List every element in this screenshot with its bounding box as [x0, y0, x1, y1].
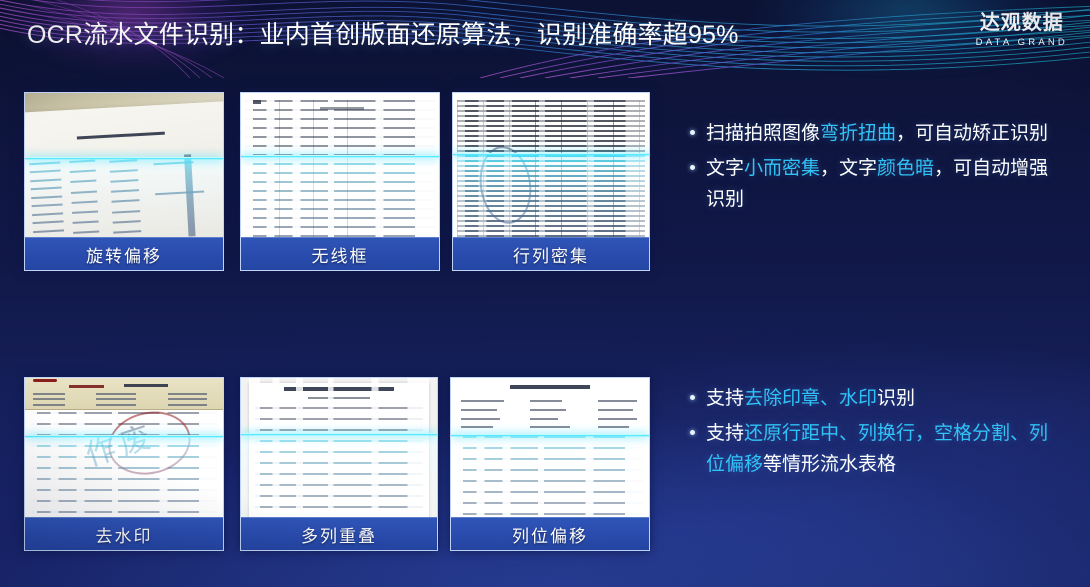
bullet-item: 支持还原行距中、列换行，空格分割、列位偏移等情形流水表格 — [688, 418, 1060, 480]
thumbnail-caption-5: 多列重叠 — [241, 517, 437, 550]
bullet-list-top: 扫描拍照图像弯折扭曲，可自动矫正识别文字小而密集，文字颜色暗，可自动增强识别 — [688, 118, 1056, 219]
bullet-item: 扫描拍照图像弯折扭曲，可自动矫正识别 — [688, 118, 1056, 149]
caption-text: 去水印 — [96, 522, 153, 547]
thumbnail-column-offset[interactable]: 列位偏移 — [450, 377, 650, 551]
thumbnail-caption-2: 无线框 — [241, 237, 439, 270]
bank-logo-mark — [33, 379, 57, 382]
bullet-plain-text: 识别 — [877, 388, 915, 409]
thumbnail-rotation-offset[interactable]: 旋转偏移 — [24, 92, 224, 271]
thumbnail-borderless-table[interactable]: 无线框 — [240, 92, 440, 271]
caption-text: 行列密集 — [513, 242, 589, 267]
bullet-plain-text: 支持 — [706, 388, 744, 409]
caption-text: 列位偏移 — [512, 522, 588, 547]
caption-text: 多列重叠 — [301, 522, 377, 547]
brand-logo-en: DATA GRAND — [976, 36, 1068, 50]
bullet-highlight-text: 小而密集 — [744, 158, 820, 179]
bullet-dot-icon — [690, 430, 695, 435]
bullet-text: 扫描拍照图像弯折扭曲，可自动矫正识别 — [706, 118, 1056, 149]
bullet-text: 支持还原行距中、列换行，空格分割、列位偏移等情形流水表格 — [706, 418, 1060, 480]
bullet-plain-text: 等情形流水表格 — [763, 454, 896, 475]
bullet-item: 支持去除印章、水印识别 — [688, 383, 1060, 414]
bullet-plain-text: 扫描拍照图像 — [706, 123, 820, 144]
thumbnail-remove-watermark[interactable]: 作废 去水印 — [24, 377, 224, 551]
bullet-highlight-text: 颜色暗 — [877, 158, 934, 179]
bullet-plain-text: 支持 — [706, 423, 744, 444]
bullet-plain-text: 文字 — [706, 158, 744, 179]
thumbnail-caption-6: 列位偏移 — [451, 517, 649, 550]
thumbnail-caption-1: 旋转偏移 — [25, 237, 223, 270]
bullet-plain-text: ，文字 — [820, 158, 877, 179]
bullet-highlight-text: 去除印章、水印 — [744, 388, 877, 409]
bullet-plain-text: ，可自动矫正识别 — [896, 123, 1048, 144]
brand-logo: 达观数据 DATA GRAND — [976, 10, 1068, 50]
caption-text: 无线框 — [312, 242, 369, 267]
bullet-dot-icon — [690, 395, 695, 400]
page-title: OCR流水文件识别：业内首创版面还原算法，识别准确率超95% — [27, 16, 739, 54]
thumbnail-multi-column-overlap[interactable]: 多列重叠 — [240, 377, 438, 551]
bullet-text: 文字小而密集，文字颜色暗，可自动增强识别 — [706, 153, 1056, 215]
bullet-dot-icon — [690, 165, 695, 170]
bullet-text: 支持去除印章、水印识别 — [706, 383, 1060, 414]
bullet-dot-icon — [690, 130, 695, 135]
slide-canvas: OCR流水文件识别：业内首创版面还原算法，识别准确率超95% 达观数据 DATA… — [0, 0, 1090, 587]
thumbnail-caption-3: 行列密集 — [453, 237, 649, 270]
thumbnail-dense-rows-cols[interactable]: 行列密集 — [452, 92, 650, 271]
bullet-item: 文字小而密集，文字颜色暗，可自动增强识别 — [688, 153, 1056, 215]
bullet-list-bottom: 支持去除印章、水印识别支持还原行距中、列换行，空格分割、列位偏移等情形流水表格 — [688, 383, 1060, 484]
bullet-highlight-text: 弯折扭曲 — [820, 123, 896, 144]
thumbnail-caption-4: 去水印 — [25, 517, 223, 550]
caption-text: 旋转偏移 — [86, 242, 162, 267]
bank-header-band — [25, 378, 223, 410]
brand-logo-cn: 达观数据 — [976, 10, 1068, 34]
